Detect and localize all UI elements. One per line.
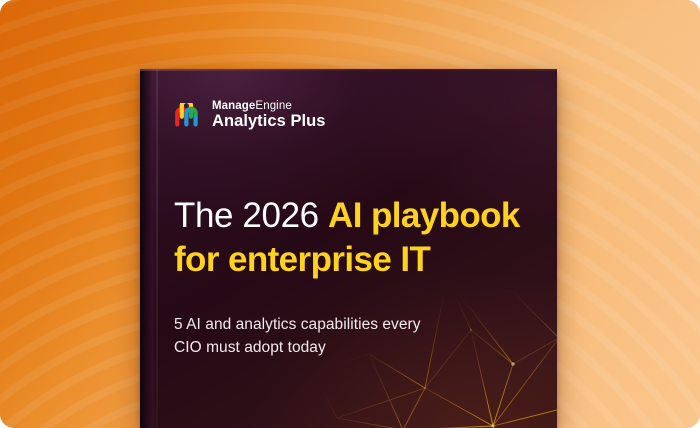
brand-text-block: ManageEngine Analytics Plus (212, 100, 326, 131)
headline-accent-line1: AI playbook (328, 196, 520, 235)
ebook-cover-card[interactable]: ManageEngine Analytics Plus The 2026 AI … (140, 69, 557, 428)
subheadline-line-1: 5 AI and analytics capabilities every (174, 316, 421, 333)
cover-headline: The 2026 AI playbookfor enterprise IT (174, 194, 544, 282)
headline-accent-line2: for enterprise IT (174, 240, 430, 279)
brand-lockup: ManageEngine Analytics Plus (174, 100, 326, 131)
cover-subheadline: 5 AI and analytics capabilities everyCIO… (174, 314, 514, 360)
book-spine (140, 69, 156, 428)
book-spine-highlight (156, 69, 158, 428)
subheadline-line-2: CIO must adopt today (174, 339, 326, 356)
manageengine-logo (174, 103, 203, 127)
brand-product-name: Analytics Plus (212, 113, 326, 130)
brand-company-name: ManageEngine (212, 100, 326, 112)
promo-stage: ManageEngine Analytics Plus The 2026 AI … (0, 0, 700, 428)
brand-company-prefix: Manage (212, 100, 255, 112)
cover-top-edge-highlight (140, 69, 557, 71)
headline-plain-text: The 2026 (174, 196, 328, 235)
brand-company-suffix: Engine (255, 100, 291, 112)
